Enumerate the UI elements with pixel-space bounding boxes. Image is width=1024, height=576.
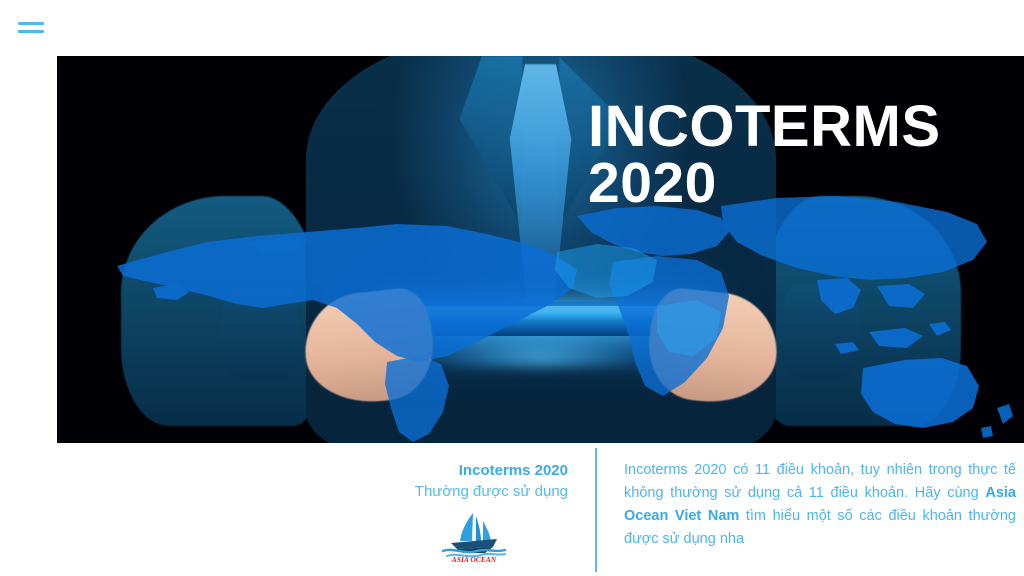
- left-subheading: Thường được sử dụng: [0, 481, 568, 503]
- hero-title-line-1: INCOTERMS: [588, 98, 1008, 155]
- right-column-paragraph: Incoterms 2020 có 11 điều khoản, tuy nhi…: [624, 459, 1016, 551]
- menu-bar-top: [18, 22, 44, 25]
- column-divider: [595, 448, 597, 572]
- bottom-section: Incoterms 2020 Thường được sử dụng ASIA …: [0, 443, 1024, 576]
- logo-wordmark: ASIA OCEAN: [451, 555, 497, 563]
- hero-title: INCOTERMS 2020: [588, 98, 1008, 212]
- left-column: Incoterms 2020 Thường được sử dụng ASIA …: [0, 461, 568, 563]
- hamburger-menu-icon[interactable]: [18, 20, 44, 36]
- asia-ocean-logo: ASIA OCEAN: [0, 511, 568, 563]
- hero-title-line-2: 2020: [588, 155, 1008, 211]
- paragraph-part-1: Incoterms 2020 có 11 điều khoản, tuy nhi…: [624, 462, 1016, 501]
- top-bar: [0, 0, 1024, 56]
- menu-bar-bottom: [18, 30, 44, 33]
- left-heading: Incoterms 2020: [0, 461, 568, 481]
- hero-image: INCOTERMS 2020: [57, 56, 1024, 443]
